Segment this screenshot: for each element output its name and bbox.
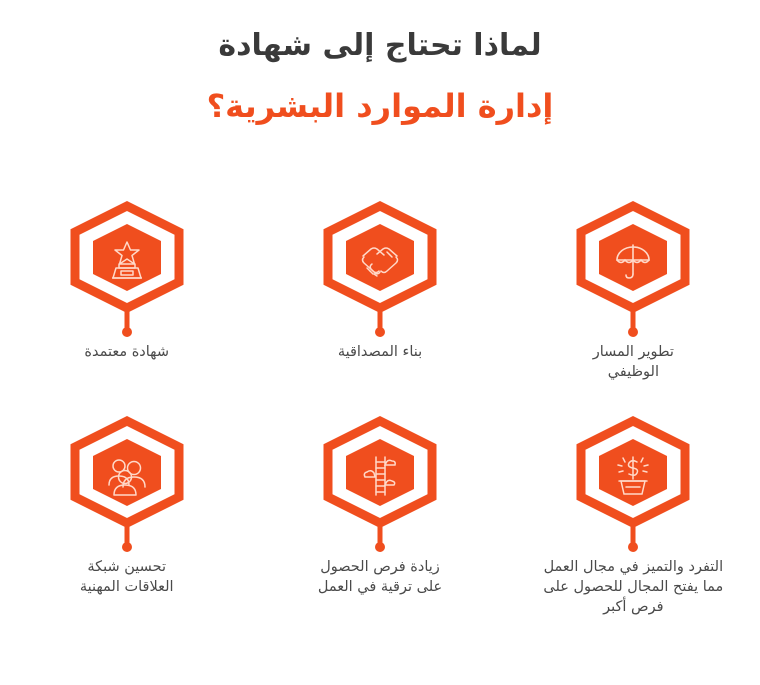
hexagon-frame [64,200,190,340]
infographic-canvas: لماذا تحتاج إلى شهادة إدارة الموارد البش… [0,0,760,685]
benefit-item-promotion-opportunities[interactable]: زيادة فرص الحصول على ترقية في العمل [253,415,506,645]
benefit-label: التفرد والتميز في مجال العمل مما يفتح ال… [513,557,753,617]
hexagon-badge [317,200,443,340]
hexagon-badge [570,200,696,340]
benefit-item-career-path-development[interactable]: تطوير المسار الوظيفي [507,200,760,415]
benefit-label: تطوير المسار الوظيفي [523,342,743,382]
hexagon-frame [64,415,190,555]
benefit-item-uniqueness-and-excellence[interactable]: التفرد والتميز في مجال العمل مما يفتح ال… [507,415,760,645]
page-title: لماذا تحتاج إلى شهادة إدارة الموارد البش… [0,24,760,128]
benefit-label: بناء المصداقية [270,342,490,362]
hexagon-badge [317,415,443,555]
hexagon-frame [317,200,443,340]
benefit-item-accredited-certificate[interactable]: شهادة معتمدة [0,200,253,415]
hexagon-badge [64,415,190,555]
benefit-label: زيادة فرص الحصول على ترقية في العمل [270,557,490,597]
hexagon-frame [570,415,696,555]
benefits-grid: تطوير المسار الوظيفي [0,200,760,645]
benefit-label: تحسين شبكة العلاقات المهنية [17,557,237,597]
hexagon-badge [64,200,190,340]
hexagon-frame [317,415,443,555]
benefit-item-credibility-building[interactable]: بناء المصداقية [253,200,506,415]
hexagon-frame [570,200,696,340]
benefit-item-professional-network[interactable]: تحسين شبكة العلاقات المهنية [0,415,253,645]
page-title-line-2: إدارة الموارد البشرية؟ [0,84,760,128]
hexagon-badge [570,415,696,555]
benefit-label: شهادة معتمدة [17,342,237,362]
page-title-line-1: لماذا تحتاج إلى شهادة [0,24,760,68]
